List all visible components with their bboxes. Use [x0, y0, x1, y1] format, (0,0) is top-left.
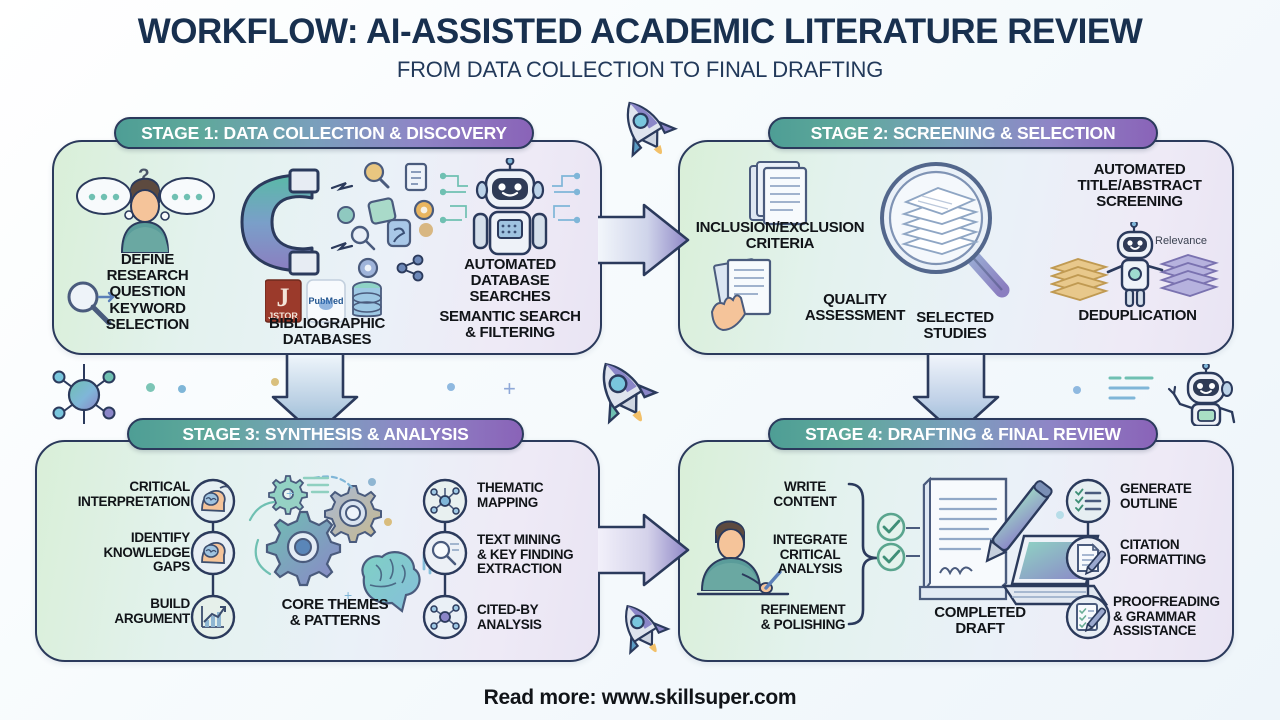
s2-right-l1: AUTOMATED — [1052, 162, 1227, 178]
s4-r3-l3: ASSISTANCE — [1113, 624, 1278, 639]
svg-text:J: J — [277, 283, 290, 312]
s3-l3-l1: BUILD — [40, 597, 190, 612]
s1-left-l4: KEYWORD — [80, 301, 215, 317]
network-globe-icon — [46, 362, 122, 428]
s3-l2-l2: KNOWLEDGE — [40, 546, 190, 561]
s1-right-l2: DATABASE — [420, 273, 600, 289]
s4-r2-l1: CITATION — [1120, 538, 1275, 553]
stage3-label-argument: BUILD ARGUMENT — [40, 597, 190, 626]
magnifier-text-icon — [422, 530, 468, 576]
s1-left-l3: QUESTION — [80, 284, 215, 300]
stage3-label-thematic: THEMATIC MAPPING — [477, 481, 627, 510]
stage2-label-criteria: INCLUSION/EXCLUSION CRITERIA — [690, 220, 870, 252]
stage3-label-gaps: IDENTIFY KNOWLEDGE GAPS — [40, 531, 190, 575]
s2-left-l1: INCLUSION/EXCLUSION — [690, 220, 870, 236]
s4-r3-l2: & GRAMMAR — [1113, 610, 1278, 625]
stage4-label-outline: GENERATE OUTLINE — [1120, 482, 1270, 511]
s4-center-l2: DRAFT — [900, 621, 1060, 637]
s3-r3-l2: ANALYSIS — [477, 618, 627, 633]
s1-right-l3: SEARCHES — [420, 289, 600, 305]
stage2-label-dedup: DEDUPLICATION — [1055, 308, 1220, 324]
svg-text:+: + — [286, 485, 294, 501]
s4-center-l1: COMPLETED — [900, 605, 1060, 621]
dot-decor-4 — [447, 383, 455, 391]
header: WORKFLOW: AI-ASSISTED ACADEMIC LITERATUR… — [0, 14, 1280, 83]
stage-4-header-pill: STAGE 4: DRAFTING & FINAL REVIEW — [768, 418, 1158, 450]
s3-l2-l3: GAPS — [40, 560, 190, 575]
s1-left-l1: DEFINE — [80, 252, 215, 268]
proofread-doc-icon — [1065, 594, 1111, 640]
ai-robot-icon — [440, 158, 580, 258]
brain-head-icon-2 — [190, 530, 236, 576]
stage-3-header-pill: STAGE 3: SYNTHESIS & ANALYSIS — [127, 418, 524, 450]
s1-right-l1: AUTOMATED — [420, 257, 600, 273]
s1-left-l5: SELECTION — [80, 317, 215, 333]
dot-decor-5 — [1073, 386, 1081, 394]
stage1-label-center: BIBLIOGRAPHIC DATABASES — [242, 316, 412, 348]
s2-right-l2: TITLE/ABSTRACT — [1052, 178, 1227, 194]
s2-center-l2: STUDIES — [890, 326, 1020, 342]
page-subtitle: FROM DATA COLLECTION TO FINAL DRAFTING — [0, 57, 1280, 83]
s3-l3-l2: ARGUMENT — [40, 612, 190, 627]
stage4-label-draft: COMPLETED DRAFT — [900, 605, 1060, 637]
s4-r1-l2: OUTLINE — [1120, 497, 1270, 512]
s3-r1-l1: THEMATIC — [477, 481, 627, 496]
page-title: WORKFLOW: AI-ASSISTED ACADEMIC LITERATUR… — [0, 14, 1280, 51]
network-node-icon-2 — [422, 594, 468, 640]
stage4-label-proofreading: PROOFREADING & GRAMMAR ASSISTANCE — [1113, 595, 1278, 639]
s3-l2-l1: IDENTIFY — [40, 531, 190, 546]
stage2-relevance-tag: Relevance — [1155, 236, 1235, 248]
rocket-icon-middle — [586, 352, 664, 438]
citation-doc-icon — [1065, 535, 1111, 581]
s3-r1-l2: MAPPING — [477, 496, 627, 511]
dot-decor-2 — [178, 385, 186, 393]
stage4-label-citation: CITATION FORMATTING — [1120, 538, 1275, 567]
s3-r3-l1: CITED-BY — [477, 603, 627, 618]
footer-link[interactable]: Read more: www.skillsuper.com — [0, 686, 1280, 710]
s1-right-l5: & FILTERING — [420, 325, 600, 341]
checkmark-icon-1 — [876, 512, 906, 542]
s1-left-l2: RESEARCH — [80, 268, 215, 284]
stage1-label-right: AUTOMATED DATABASE SEARCHES SEMANTIC SEA… — [420, 257, 600, 341]
s2-center-l1: SELECTED — [890, 310, 1020, 326]
stage3-label-citedby: CITED-BY ANALYSIS — [477, 603, 627, 632]
stage2-label-screening: AUTOMATED TITLE/ABSTRACT SCREENING — [1052, 162, 1227, 211]
s3-center-l2: & PATTERNS — [240, 613, 430, 629]
s1-right-l4: SEMANTIC SEARCH — [420, 309, 600, 325]
checkmark-icon-2 — [876, 542, 906, 572]
waving-robot-icon — [1104, 364, 1269, 426]
arrow-stage1-to-stage2 — [596, 203, 692, 277]
magnet-icon — [220, 160, 330, 290]
arrow-stage3-to-stage4 — [596, 513, 692, 587]
rocket-icon-top — [612, 92, 682, 170]
stage-2-header-pill: STAGE 2: SCREENING & SELECTION — [768, 117, 1158, 149]
thinking-person-icon: ? — [72, 160, 217, 255]
s4-r3-l1: PROOFREADING — [1113, 595, 1278, 610]
s2-right-l3: SCREENING — [1052, 194, 1227, 210]
checklist-icon — [1065, 478, 1111, 524]
s3-l1-l1: CRITICAL — [40, 480, 190, 495]
plus-decor: + — [503, 378, 516, 400]
hand-holding-paper-icon — [706, 258, 790, 340]
stage-1-header-pill: STAGE 1: DATA COLLECTION & DISCOVERY — [114, 117, 534, 149]
network-node-icon-1 — [422, 478, 468, 524]
magnifying-glass-papers-icon — [878, 160, 1018, 308]
s1-center-l2: DATABASES — [242, 332, 412, 348]
s1-center-l1: BIBLIOGRAPHIC — [242, 316, 412, 332]
stage1-label-left: DEFINE RESEARCH QUESTION KEYWORD SELECTI… — [80, 252, 215, 333]
s3-l1-l2: INTERPRETATION — [40, 495, 190, 510]
stage3-label-themes: CORE THEMES & PATTERNS — [240, 597, 430, 629]
stage3-label-critical: CRITICAL INTERPRETATION — [40, 480, 190, 509]
brain-head-icon-1 — [190, 478, 236, 524]
s2-left-l2: CRITERIA — [690, 236, 870, 252]
stage2-label-selected: SELECTED STUDIES — [890, 310, 1020, 342]
growth-chart-icon — [190, 594, 236, 640]
s4-r1-l1: GENERATE — [1120, 482, 1270, 497]
dot-decor-1 — [146, 383, 155, 392]
s3-center-l1: CORE THEMES — [240, 597, 430, 613]
s4-r2-l2: FORMATTING — [1120, 553, 1275, 568]
